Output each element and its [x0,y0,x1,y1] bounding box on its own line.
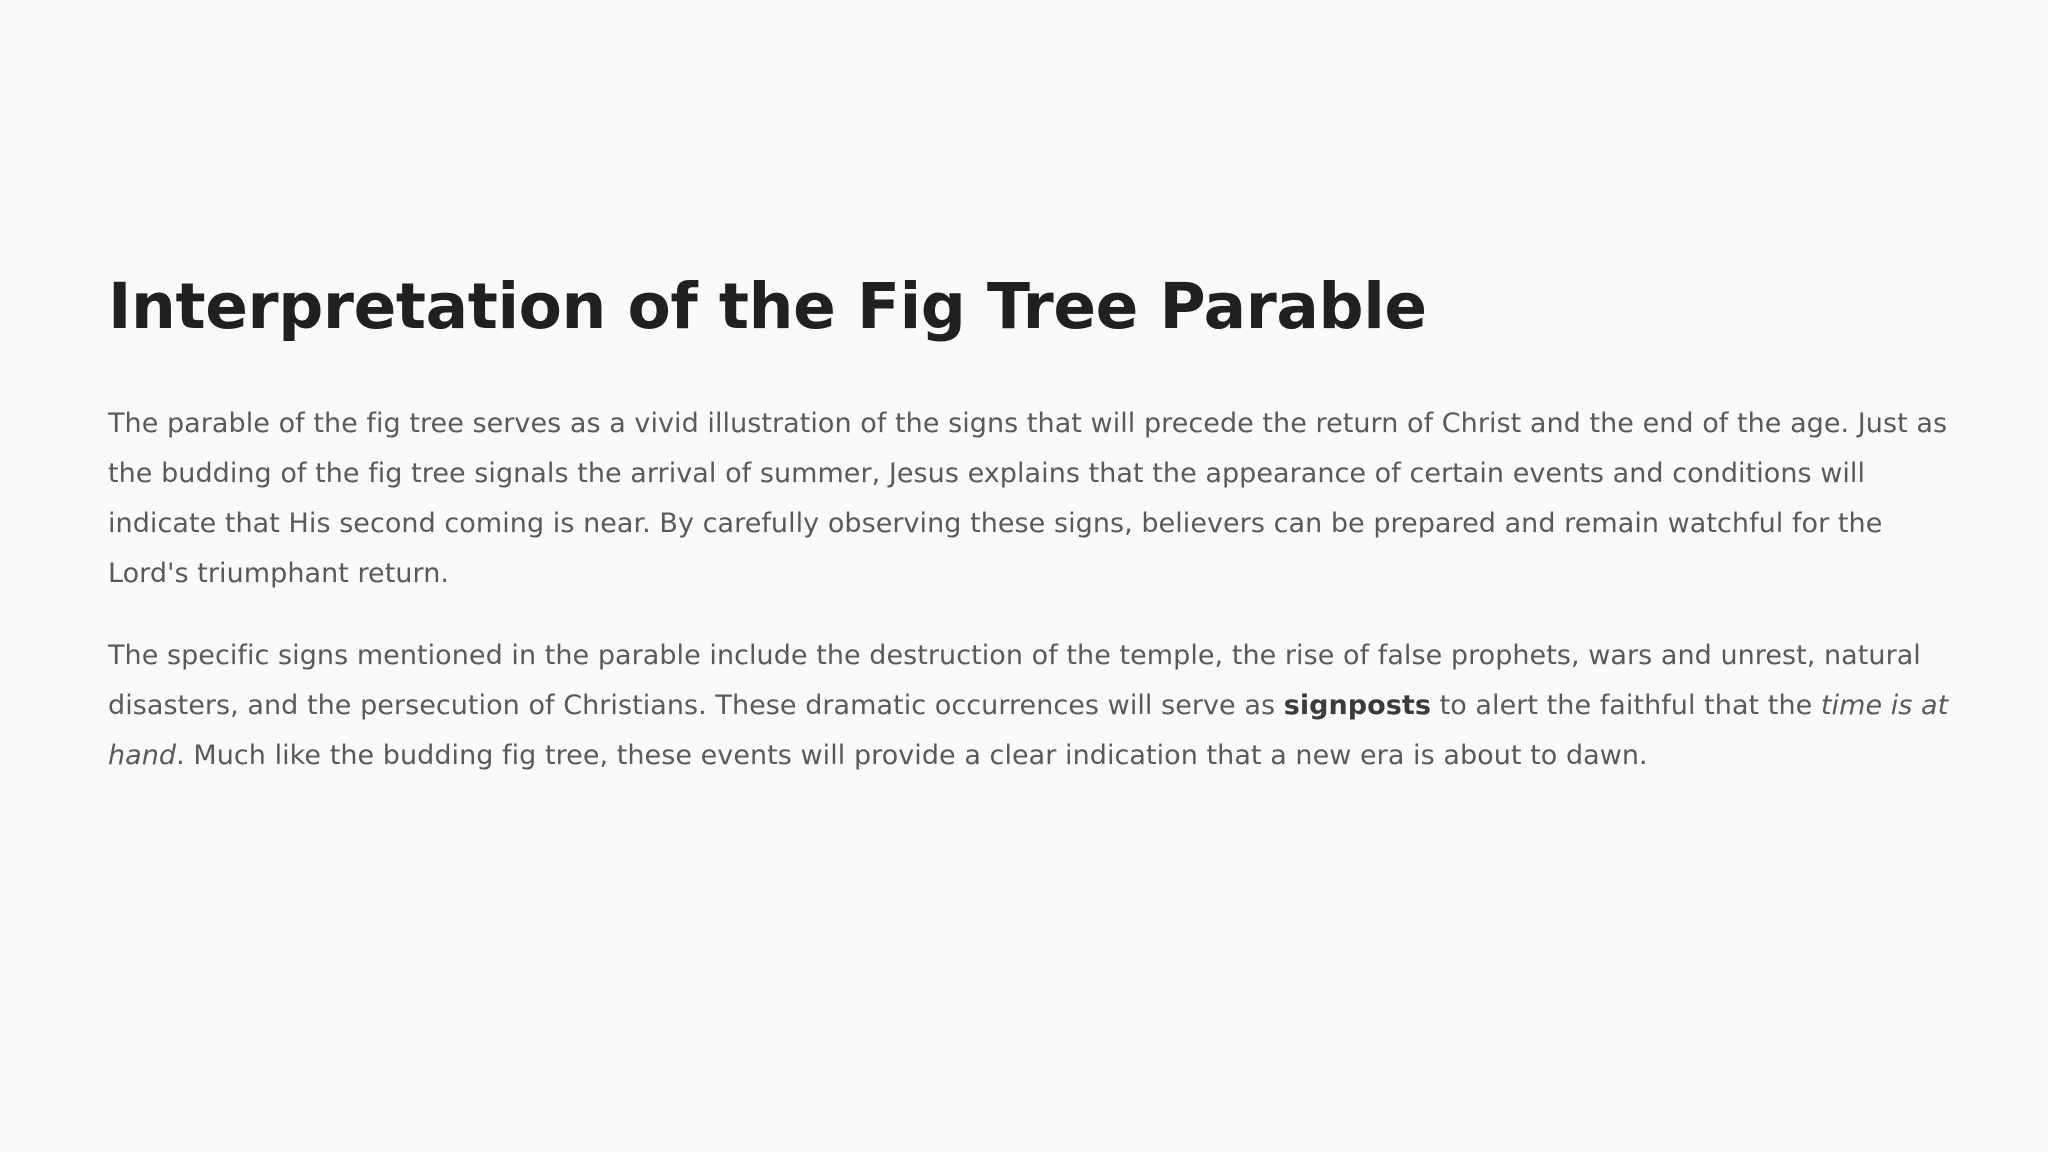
emphasis-strong: signposts [1284,690,1431,721]
emphasis-italic: time is at hand [108,690,1948,771]
article-body: The parable of the fig tree serves as a … [108,399,1953,781]
article-container: Interpretation of the Fig Tree Parable T… [108,272,1953,781]
page-title: Interpretation of the Fig Tree Parable [108,272,1953,343]
paragraph-2: The specific signs mentioned in the para… [108,631,1953,781]
paragraph-1: The parable of the fig tree serves as a … [108,399,1953,599]
page-root: Interpretation of the Fig Tree Parable T… [0,0,2048,1152]
